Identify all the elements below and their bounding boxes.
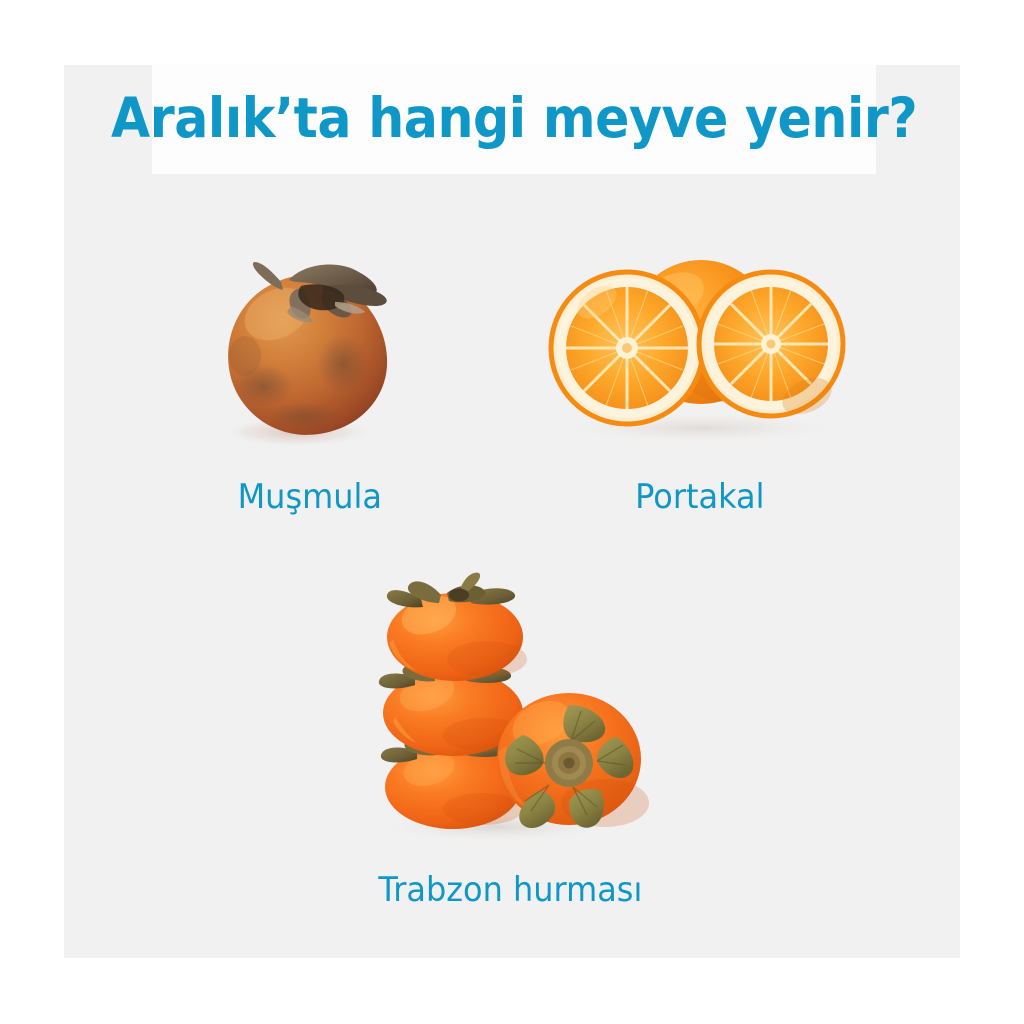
page-title: Aralık’ta hangi meyve yenir?: [111, 91, 917, 146]
title-band: Aralık’ta hangi meyve yenir?: [152, 63, 876, 174]
infographic-root: Aralık’ta hangi meyve yenir?: [0, 0, 1024, 1024]
orange-fruit-icon: [535, 236, 865, 446]
fruit-label-musmula: Muşmula: [238, 480, 382, 514]
persimmon-fruit-icon: [365, 565, 655, 845]
medlar-fruit-icon: [185, 236, 435, 446]
fruit-item-portakal: Portakal: [545, 236, 855, 514]
fruit-item-musmula: Muşmula: [155, 236, 465, 514]
fruit-item-trabzon-hurmasi: Trabzon hurması: [355, 565, 665, 907]
orange-half-left: [551, 272, 703, 424]
fruit-label-trabzon-hurmasi: Trabzon hurması: [378, 873, 642, 907]
fruit-label-portakal: Portakal: [635, 480, 764, 514]
orange-half-right: [699, 272, 843, 421]
persimmon-top: [387, 573, 527, 681]
